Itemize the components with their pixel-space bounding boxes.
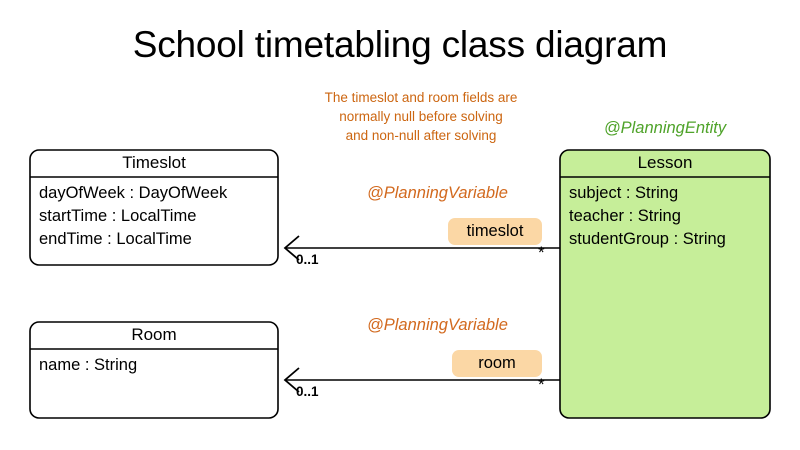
class-name-timeslot: Timeslot (30, 153, 278, 173)
page-title: School timetabling class diagram (0, 24, 800, 66)
multiplicity-room-target: 0..1 (296, 384, 319, 399)
class-fields-lesson: subject : String teacher : String studen… (569, 182, 774, 251)
diagram-canvas: School timetabling class diagram (0, 0, 800, 450)
class-field: endTime : LocalTime (39, 228, 279, 251)
stereotype-planning-variable-room: @PlanningVariable (367, 316, 508, 335)
solving-note-line-3: and non-null after solving (290, 126, 552, 145)
class-field: startTime : LocalTime (39, 205, 279, 228)
multiplicity-room-source: * (538, 377, 545, 392)
stereotype-planning-variable-timeslot: @PlanningVariable (367, 184, 508, 203)
multiplicity-timeslot-target: 0..1 (296, 252, 319, 267)
class-field: studentGroup : String (569, 228, 774, 251)
class-name-lesson: Lesson (560, 153, 770, 173)
solving-note-line-1: The timeslot and room fields are (290, 88, 552, 107)
variable-badge-room: room (452, 350, 542, 377)
class-name-room: Room (30, 325, 278, 345)
class-fields-timeslot: dayOfWeek : DayOfWeek startTime : LocalT… (39, 182, 279, 251)
solving-note-line-2: normally null before solving (290, 107, 552, 126)
stereotype-planning-entity: @PlanningEntity (560, 119, 770, 138)
multiplicity-timeslot-source: * (538, 245, 545, 260)
variable-badge-timeslot: timeslot (448, 218, 542, 245)
class-field: teacher : String (569, 205, 774, 228)
solving-note: The timeslot and room fields are normall… (290, 88, 552, 145)
class-field: subject : String (569, 182, 774, 205)
class-field: dayOfWeek : DayOfWeek (39, 182, 279, 205)
class-fields-room: name : String (39, 354, 279, 377)
class-field: name : String (39, 354, 279, 377)
